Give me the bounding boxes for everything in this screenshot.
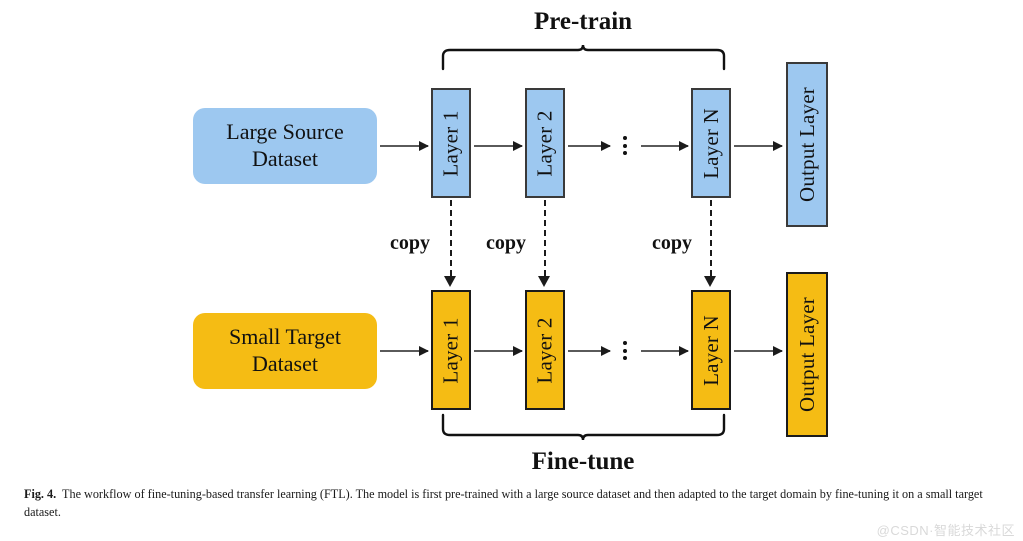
pretrain-brace [440, 44, 730, 70]
finetune-brace [440, 414, 730, 442]
top-row-ellipsis [623, 136, 627, 155]
figure-caption: Fig. 4. The workflow of fine-tuning-base… [24, 486, 1004, 521]
bottom-layer-2-label: Layer 2 [533, 317, 558, 383]
top-layer-1-label: Layer 1 [439, 110, 464, 176]
arrow-top-ellipsis-to-layerN [641, 145, 688, 147]
arrow-top-layer1-to-layer2 [474, 145, 522, 147]
top-layer-n-label: Layer N [699, 108, 724, 179]
copy-arrow-3-head [704, 276, 716, 287]
bottom-layer-1-box: Layer 1 [431, 290, 471, 410]
bottom-layer-2-box: Layer 2 [525, 290, 565, 410]
top-layer-1-box: Layer 1 [431, 88, 471, 198]
arrow-bottom-layer1-to-layer2 [474, 350, 522, 352]
large-source-dataset-box: Large Source Dataset [193, 108, 377, 184]
arrow-bottom-layer2-to-ellipsis [568, 350, 610, 352]
copy-label-2: copy [486, 232, 526, 255]
pretrain-title: Pre-train [443, 8, 723, 36]
arrow-bottom-layerN-to-output [734, 350, 782, 352]
copy-label-1: copy [390, 232, 430, 255]
small-target-dataset-line1: Small Target [229, 324, 341, 349]
bottom-layer-n-box: Layer N [691, 290, 731, 410]
arrow-top-dataset-to-layer1 [380, 145, 428, 147]
bottom-row-ellipsis [623, 341, 627, 360]
copy-arrow-1-line [450, 200, 452, 276]
figure-canvas: Pre-train Large Source Dataset Layer 1 L… [0, 0, 1023, 541]
small-target-dataset-line2: Dataset [252, 351, 318, 376]
small-target-dataset-box: Small Target Dataset [193, 313, 377, 389]
top-layer-2-label: Layer 2 [533, 110, 558, 176]
figure-number: Fig. 4. [24, 487, 56, 501]
arrow-top-layerN-to-output [734, 145, 782, 147]
copy-label-3: copy [652, 232, 692, 255]
bottom-layer-1-label: Layer 1 [439, 317, 464, 383]
csdn-watermark: @CSDN·智能技术社区 [877, 520, 1015, 539]
top-output-layer-box: Output Layer [786, 62, 828, 227]
copy-arrow-2-head [538, 276, 550, 287]
bottom-output-layer-label: Output Layer [795, 297, 820, 412]
copy-arrow-2-line [544, 200, 546, 276]
top-output-layer-label: Output Layer [795, 87, 820, 202]
arrow-bottom-dataset-to-layer1 [380, 350, 428, 352]
arrow-top-layer2-to-ellipsis [568, 145, 610, 147]
bottom-layer-n-label: Layer N [699, 315, 724, 386]
bottom-output-layer-box: Output Layer [786, 272, 828, 437]
top-layer-n-box: Layer N [691, 88, 731, 198]
figure-caption-text: The workflow of fine-tuning-based transf… [24, 487, 983, 519]
arrow-bottom-ellipsis-to-layerN [641, 350, 688, 352]
copy-arrow-3-line [710, 200, 712, 276]
copy-arrow-1-head [444, 276, 456, 287]
large-source-dataset-line1: Large Source [226, 119, 344, 144]
finetune-title: Fine-tune [443, 448, 723, 476]
large-source-dataset-line2: Dataset [252, 146, 318, 171]
top-layer-2-box: Layer 2 [525, 88, 565, 198]
